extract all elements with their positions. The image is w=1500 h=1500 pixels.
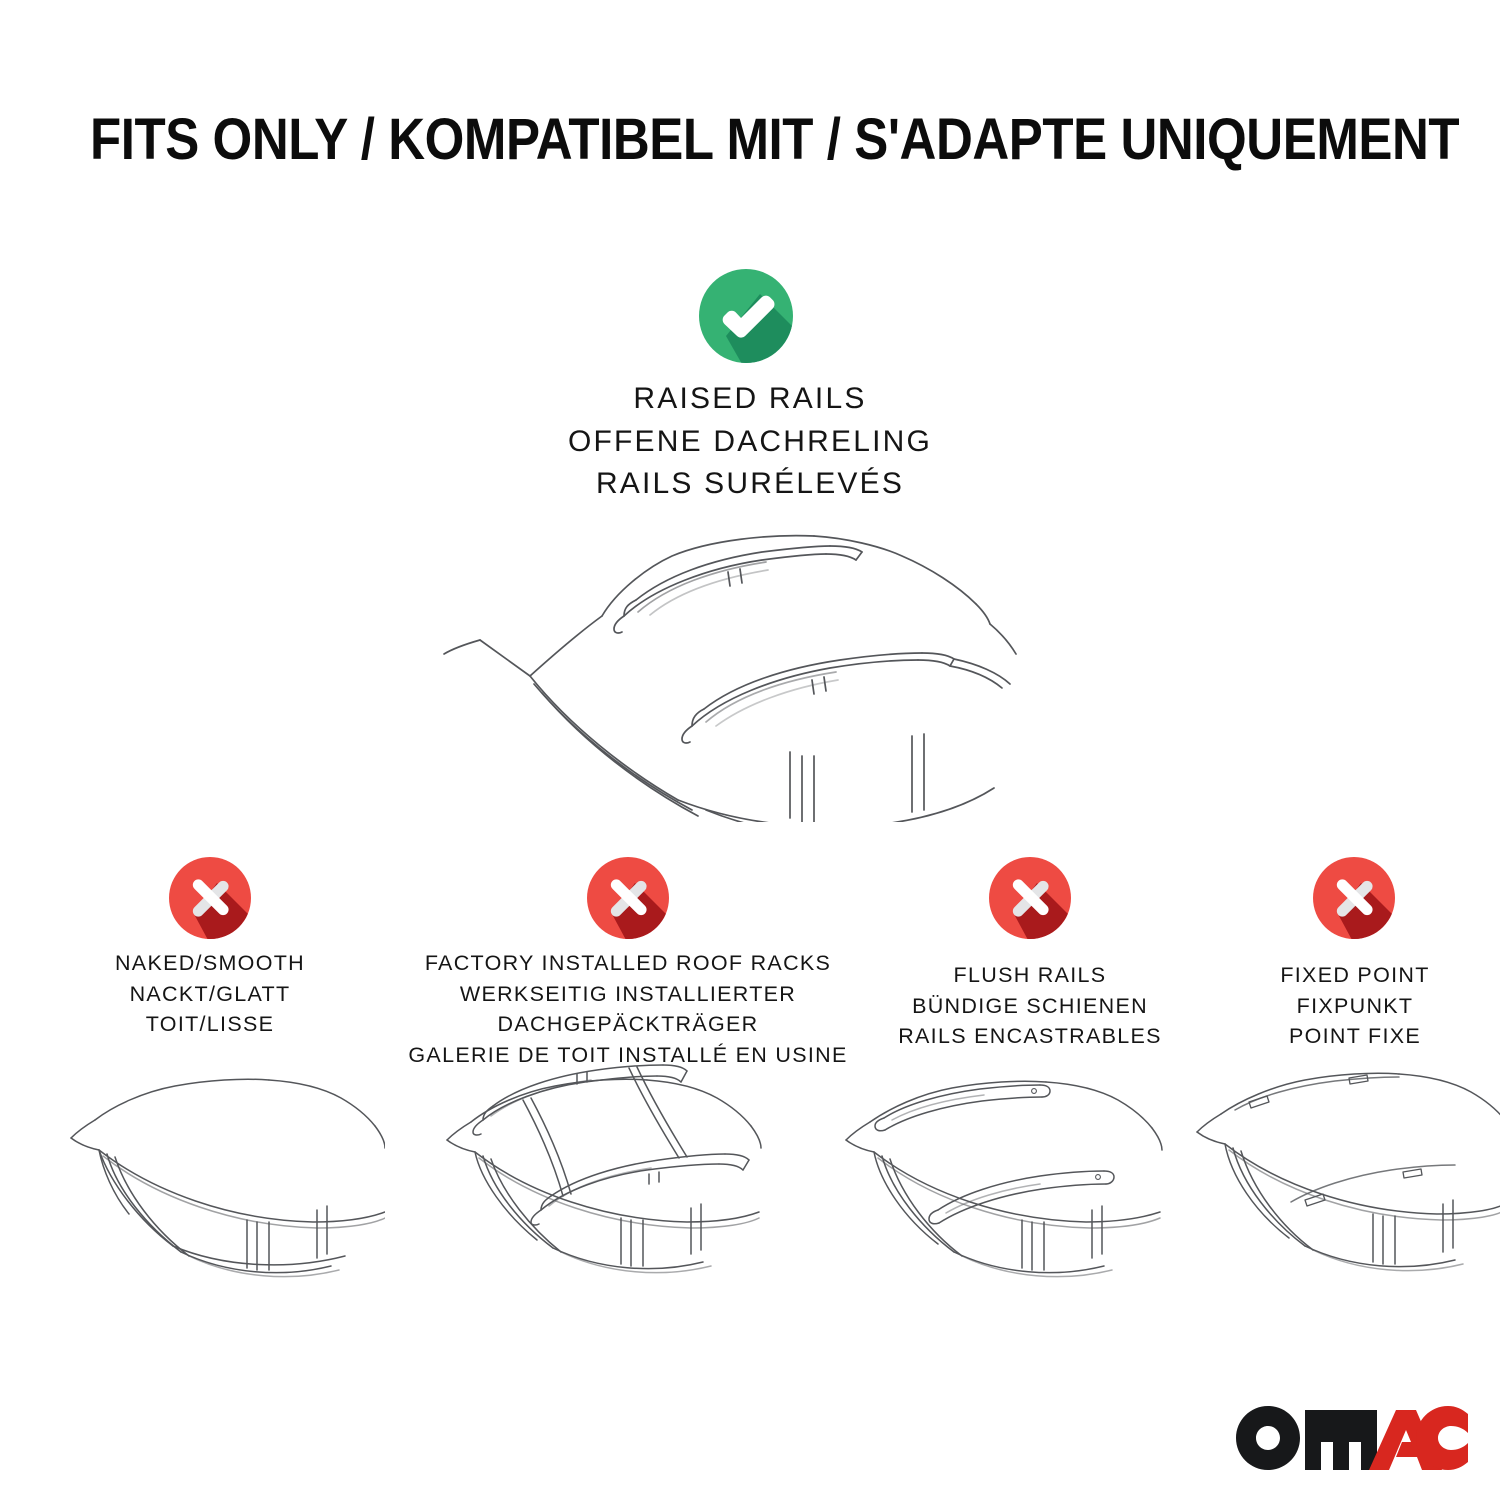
label-group-fixed-point: FIXED POINT FIXPUNKT POINT FIXE bbox=[1195, 960, 1500, 1052]
page-title: FITS ONLY / KOMPATIBEL MIT / S'ADAPTE UN… bbox=[90, 106, 1410, 173]
x-circle-icon-factory-racks bbox=[586, 856, 670, 940]
car-roof-flush-rails-illustration bbox=[828, 1062, 1178, 1282]
car-roof-fixed-point-illustration bbox=[1185, 1060, 1500, 1280]
raised-rails-label-fr: RAILS SURÉLEVÉS bbox=[450, 463, 1050, 506]
label-naked-smooth-de: NACKT/GLATT bbox=[30, 979, 390, 1010]
raised-rails-label-de: OFFENE DACHRELING bbox=[450, 421, 1050, 464]
raised-rails-label-group: RAISED RAILS OFFENE DACHRELING RAILS SUR… bbox=[450, 378, 1050, 506]
check-circle-icon bbox=[698, 268, 794, 364]
label-naked-smooth-en: NAKED/SMOOTH bbox=[30, 948, 390, 979]
label-fixed-point-de: FIXPUNKT bbox=[1195, 991, 1500, 1022]
label-flush-rails-de: BÜNDIGE SCHIENEN bbox=[860, 991, 1200, 1022]
car-roof-raised-rails-illustration bbox=[410, 512, 1090, 822]
label-naked-smooth-fr: TOIT/LISSE bbox=[30, 1009, 390, 1040]
omac-logo bbox=[1236, 1406, 1468, 1474]
x-circle-icon-flush-rails bbox=[988, 856, 1072, 940]
label-group-flush-rails: FLUSH RAILS BÜNDIGE SCHIENEN RAILS ENCAS… bbox=[860, 960, 1200, 1052]
label-flush-rails-en: FLUSH RAILS bbox=[860, 960, 1200, 991]
car-roof-factory-racks-illustration bbox=[425, 1058, 785, 1284]
label-fixed-point-fr: POINT FIXE bbox=[1195, 1021, 1500, 1052]
car-roof-naked-illustration bbox=[55, 1062, 385, 1282]
label-factory-racks-de-1: WERKSEITIG INSTALLIERTER bbox=[398, 979, 858, 1010]
fitment-compatibility-infographic: FITS ONLY / KOMPATIBEL MIT / S'ADAPTE UN… bbox=[0, 0, 1500, 1500]
label-factory-racks-en: FACTORY INSTALLED ROOF RACKS bbox=[398, 948, 858, 979]
label-flush-rails-fr: RAILS ENCASTRABLES bbox=[860, 1021, 1200, 1052]
raised-rails-label-en: RAISED RAILS bbox=[450, 378, 1050, 421]
label-fixed-point-en: FIXED POINT bbox=[1195, 960, 1500, 991]
x-circle-icon-fixed-point bbox=[1312, 856, 1396, 940]
x-circle-icon-naked-smooth bbox=[168, 856, 252, 940]
label-factory-racks-de-2: DACHGEPÄCKTRÄGER bbox=[398, 1009, 858, 1040]
label-group-naked-smooth: NAKED/SMOOTH NACKT/GLATT TOIT/LISSE bbox=[30, 948, 390, 1040]
label-group-factory-racks: FACTORY INSTALLED ROOF RACKS WERKSEITIG … bbox=[398, 948, 858, 1070]
